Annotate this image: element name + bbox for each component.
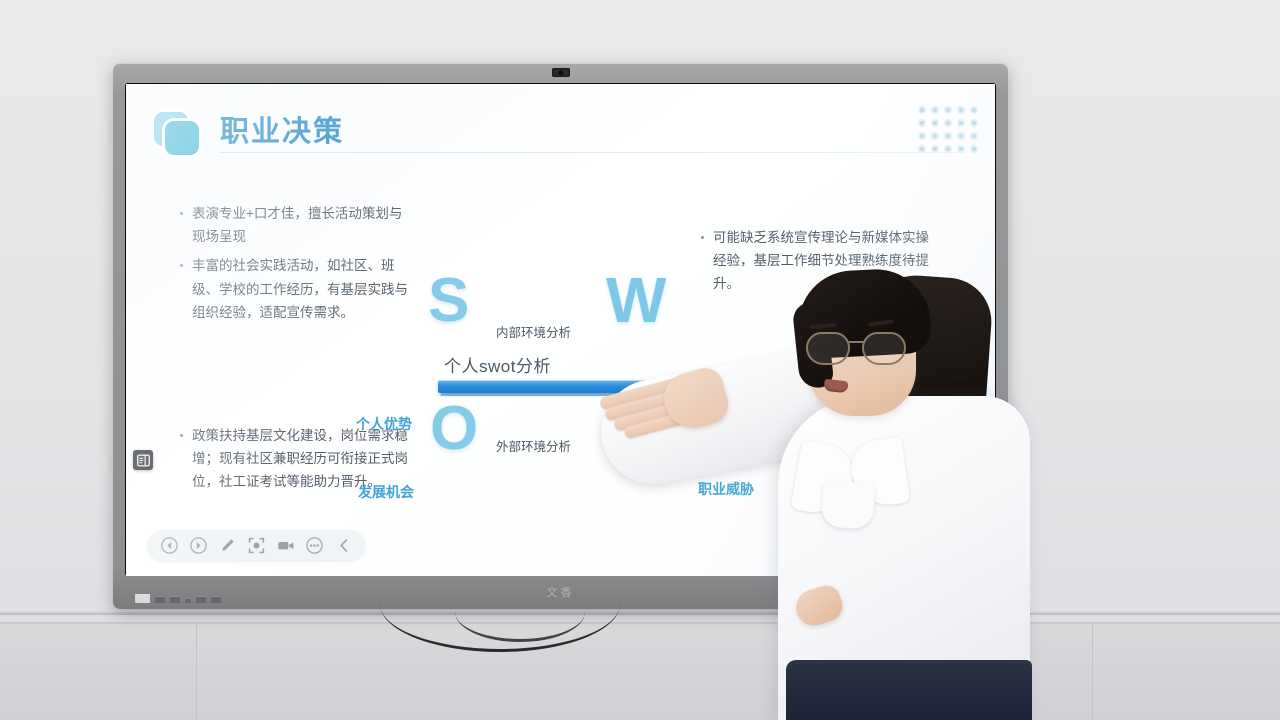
bullet-dot-icon bbox=[180, 434, 183, 437]
camera-module-icon bbox=[552, 68, 570, 77]
bullet-text: 表演专业+口才佳，擅长活动策划与现场呈现 bbox=[192, 202, 408, 248]
swot-center-title: 个人swot分析 bbox=[444, 352, 551, 377]
swot-tag-strength: 个人优势 bbox=[356, 414, 412, 434]
list-item: 丰富的社会实践活动，如社区、班级、学校的工作经历，有基层实践与组织经验，适配宣传… bbox=[180, 254, 408, 324]
next-icon[interactable] bbox=[189, 536, 208, 555]
grid-dot bbox=[957, 106, 965, 114]
capture-icon[interactable] bbox=[247, 536, 266, 555]
blouse-bow bbox=[820, 480, 875, 530]
port-vga-icon bbox=[196, 596, 206, 603]
grid-dot bbox=[970, 119, 978, 127]
grid-dot bbox=[970, 132, 978, 140]
more-icon[interactable] bbox=[305, 536, 324, 555]
grid-dot bbox=[918, 132, 926, 140]
bullet-dot-icon bbox=[701, 236, 704, 239]
grid-dot bbox=[918, 106, 926, 114]
pen-icon[interactable] bbox=[218, 536, 237, 555]
swot-outer-label: 外部环境分析 bbox=[496, 436, 571, 455]
page-title: 职业决策 bbox=[220, 108, 344, 150]
wall-seam-right bbox=[1092, 624, 1093, 720]
grid-dot bbox=[957, 145, 965, 153]
port-hdmi-icon bbox=[155, 596, 165, 603]
square-front-shape bbox=[165, 121, 199, 155]
port-usb-icon bbox=[170, 596, 180, 603]
decorative-dot-grid bbox=[918, 106, 981, 156]
swot-letter-o: O bbox=[430, 398, 478, 460]
glasses-icon bbox=[806, 332, 918, 366]
wall-seam-left bbox=[196, 624, 197, 720]
bullet-dot-icon bbox=[180, 212, 183, 215]
grid-dot bbox=[944, 132, 952, 140]
grid-dot bbox=[944, 119, 952, 127]
bullet-dot-icon bbox=[180, 264, 183, 267]
swot-tag-opportunity: 发展机会 bbox=[358, 482, 414, 502]
grid-dot bbox=[931, 132, 939, 140]
grid-dot bbox=[944, 106, 952, 114]
bullet-list-strength: 表演专业+口才佳，擅长活动策划与现场呈现 丰富的社会实践活动，如社区、班级、学校… bbox=[180, 202, 408, 330]
video-icon[interactable] bbox=[276, 536, 295, 555]
prev-icon[interactable] bbox=[160, 536, 179, 555]
slide-toolbar[interactable] bbox=[148, 530, 365, 560]
stacked-squares-icon bbox=[154, 112, 202, 156]
grid-dot bbox=[970, 145, 978, 153]
port-power-icon bbox=[135, 594, 150, 603]
swot-letter-s: S bbox=[428, 270, 469, 332]
port-lan-icon bbox=[211, 596, 221, 603]
title-underline bbox=[220, 152, 959, 153]
swot-inner-label: 内部环境分析 bbox=[496, 322, 571, 341]
grid-dot bbox=[957, 119, 965, 127]
list-item: 表演专业+口才佳，擅长活动策划与现场呈现 bbox=[180, 202, 408, 248]
grid-dot bbox=[970, 106, 978, 114]
grid-dot bbox=[931, 119, 939, 127]
bullet-text: 丰富的社会实践活动，如社区、班级、学校的工作经历，有基层实践与组织经验，适配宣传… bbox=[192, 254, 408, 324]
grid-dot bbox=[931, 145, 939, 153]
grid-dot bbox=[931, 106, 939, 114]
lens-right bbox=[862, 332, 906, 365]
grid-dot bbox=[944, 145, 952, 153]
grid-dot bbox=[918, 145, 926, 153]
display-brand-label: 文香 bbox=[547, 584, 575, 600]
io-port-row bbox=[135, 594, 221, 603]
skirt bbox=[786, 660, 1032, 720]
presenter-person bbox=[600, 268, 1030, 720]
classroom-scene: 文香 职业决策 表演专业+口才佳，擅长活动策划与现场呈现 bbox=[0, 0, 1280, 720]
collapse-icon[interactable] bbox=[334, 536, 353, 555]
grid-dot bbox=[957, 132, 965, 140]
slide-header: 职业决策 bbox=[154, 108, 959, 164]
grid-dot bbox=[918, 119, 926, 127]
port-audio-icon bbox=[185, 598, 191, 603]
lens-left bbox=[806, 332, 850, 365]
panel-toggle-icon[interactable] bbox=[133, 450, 153, 470]
